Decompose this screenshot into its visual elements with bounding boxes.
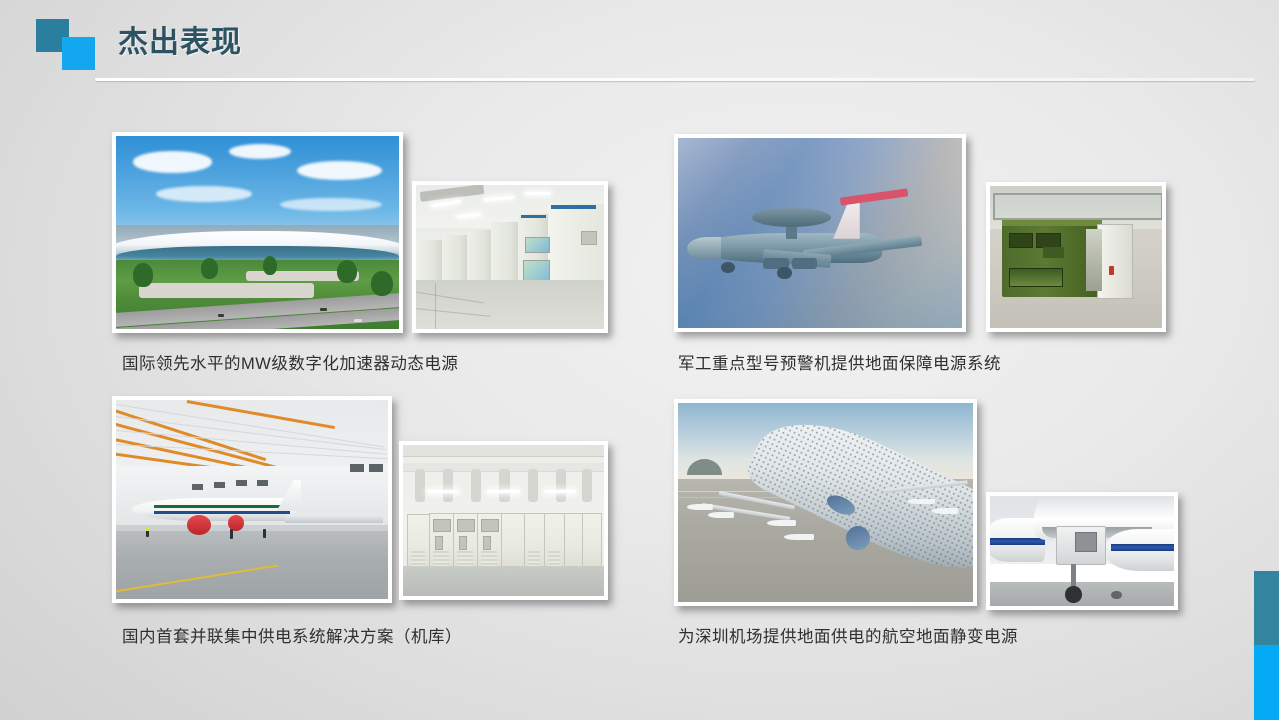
photo-ground-power-art	[990, 496, 1174, 606]
cloud-icon	[133, 151, 212, 172]
duct-pipe	[471, 469, 481, 502]
tree-icon	[371, 271, 394, 296]
duct-pipe	[582, 469, 592, 502]
cabinet-vent	[457, 551, 473, 566]
tree-icon	[337, 260, 357, 283]
duct-pipe	[443, 469, 453, 502]
landing-gear	[721, 262, 735, 273]
parked-aircraft	[908, 499, 935, 505]
cabinet-vent	[528, 551, 540, 566]
light-tube-icon	[487, 490, 519, 493]
wall-window	[236, 480, 247, 486]
shelter-vent	[1009, 233, 1033, 248]
cloud-icon	[156, 186, 252, 201]
caption-item-0: 国际领先水平的MW级数字化加速器动态电源	[122, 350, 458, 374]
cabinet-handle	[483, 536, 491, 550]
wall-window	[350, 464, 364, 472]
shelter-roof	[1002, 220, 1102, 226]
cabinet-vent	[433, 551, 449, 566]
photo-awacs-art	[678, 138, 962, 328]
shelter-connector-panel	[1009, 268, 1063, 287]
photo-arena-art	[116, 136, 399, 329]
caption-item-2: 国内首套并联集中供电系统解决方案（机库）	[122, 623, 462, 647]
cabinet	[501, 513, 525, 572]
floor-line	[435, 283, 436, 329]
header-divider	[95, 78, 1255, 81]
photo-cabinets-parallel[interactable]	[399, 441, 608, 600]
tree-icon	[201, 258, 218, 279]
ceiling-beam	[403, 445, 604, 457]
shelter-handle	[1043, 247, 1064, 258]
photo-hangar-art	[116, 400, 388, 599]
slide-canvas: 杰出表现	[0, 0, 1279, 720]
cabinet	[564, 513, 584, 572]
tree-icon	[263, 256, 277, 275]
livery-stripe	[154, 511, 290, 514]
maintenance-platform	[285, 515, 383, 523]
engine	[792, 258, 818, 269]
ground-power-panel	[1075, 532, 1097, 552]
photo-green-shelter-art	[990, 186, 1162, 328]
duct-pipe	[528, 469, 538, 502]
cabinet-panel	[581, 231, 596, 245]
cabinet-vent	[548, 551, 560, 566]
shelter-door-open	[1097, 224, 1133, 298]
light-tube-icon	[427, 490, 459, 493]
cabinet-display	[525, 237, 550, 253]
decor-square-bright-icon	[62, 37, 95, 70]
tarmac	[990, 582, 1174, 606]
plaza	[139, 283, 314, 298]
wall-window	[369, 464, 383, 472]
cabinet-panel	[481, 519, 499, 532]
shelter-interior-cabinet	[1086, 229, 1101, 291]
car-icon	[354, 319, 362, 322]
photo-shenzhen-terminal-art	[678, 403, 973, 602]
edge-accent-blue	[1254, 645, 1279, 720]
worker-vest	[146, 527, 149, 531]
photo-cabinets-parallel-art	[403, 445, 604, 596]
light-tube-icon	[525, 192, 551, 195]
duct-pipe	[499, 469, 509, 502]
photo-ground-power[interactable]	[986, 492, 1178, 610]
parked-aircraft	[784, 534, 814, 540]
photo-hangar[interactable]	[112, 396, 392, 603]
caption-item-1: 军工重点型号预警机提供地面保障电源系统	[678, 350, 1001, 374]
photo-awacs-aircraft[interactable]	[674, 134, 966, 332]
balcony-railing	[993, 193, 1162, 220]
edge-accent-teal	[1254, 571, 1279, 645]
duct-pipe	[415, 469, 425, 502]
livery-blue-band	[990, 538, 1045, 546]
photo-shenzhen-terminal[interactable]	[674, 399, 977, 606]
aircraft-nose	[687, 237, 721, 260]
floor	[403, 566, 604, 596]
cabinet-panel	[433, 519, 451, 532]
photo-cabinets-accelerator[interactable]	[412, 181, 608, 333]
car-icon	[218, 314, 224, 317]
wall-window	[257, 480, 268, 486]
fire-extinguisher-icon	[1109, 266, 1114, 276]
cabinet-handle	[459, 536, 467, 550]
landing-gear	[777, 267, 791, 278]
wall-window	[192, 484, 203, 490]
cabinet-panel	[457, 519, 475, 532]
aircraft-fuselage	[132, 498, 295, 522]
livery-stripe	[154, 505, 290, 508]
worker	[230, 529, 233, 539]
worker	[263, 529, 266, 538]
livery-blue-band	[1111, 544, 1174, 551]
cabinet-vent	[411, 551, 425, 566]
hangar-floor	[116, 531, 388, 599]
light-tube-icon	[544, 490, 576, 493]
floor	[416, 280, 604, 329]
shelter-vent	[1036, 233, 1060, 248]
cabinet-handle	[435, 536, 443, 550]
photo-arena[interactable]	[112, 132, 403, 333]
cabinet-vent	[481, 551, 497, 566]
duct-pipe	[556, 469, 566, 502]
wall-window	[214, 482, 225, 488]
caption-item-3: 为深圳机场提供地面供电的航空地面静变电源	[678, 623, 1018, 647]
tree-icon	[133, 263, 153, 286]
cabinet-label	[551, 205, 596, 209]
cabinet-label	[521, 215, 545, 218]
photo-cabinets-accelerator-art	[416, 185, 604, 329]
car-icon	[320, 308, 327, 311]
nose-wheel	[1065, 586, 1082, 603]
photo-green-shelter[interactable]	[986, 182, 1166, 332]
page-title: 杰出表现	[118, 17, 242, 61]
cabinet	[582, 513, 602, 572]
